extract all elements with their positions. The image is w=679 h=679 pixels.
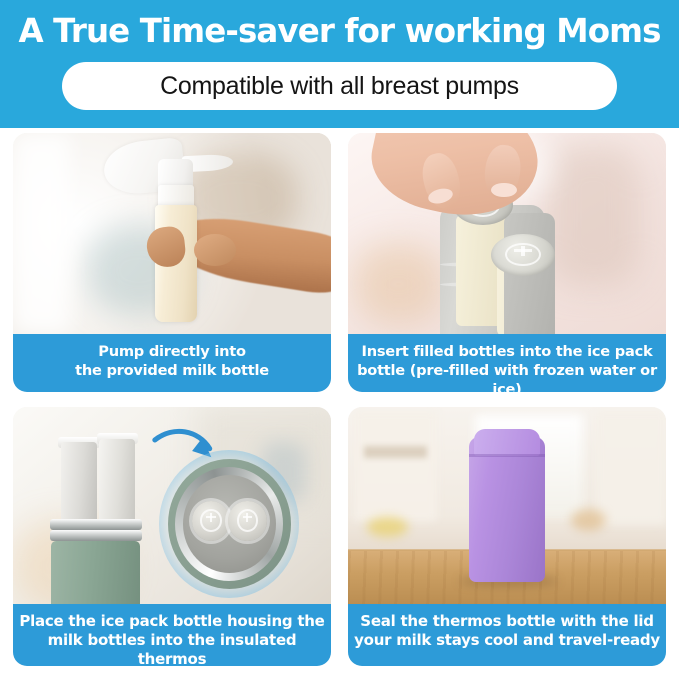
milk-bottle-b: [99, 439, 136, 526]
background-blur-left: [354, 244, 443, 324]
inset-interior: [183, 475, 276, 573]
fingers: [194, 234, 235, 266]
purple-thermos: [469, 437, 545, 583]
green-thermos: [51, 541, 140, 604]
step-caption: Seal the thermos bottle with the lid you…: [348, 604, 666, 666]
background-cabinet-left: [354, 411, 437, 521]
background-shelf: [364, 446, 428, 458]
background-cabinet-right: [596, 411, 666, 525]
compatibility-pill: Compatible with all breast pumps: [62, 62, 617, 110]
inset-thermos-body: [168, 459, 291, 589]
bottle-cap-right: [491, 234, 555, 276]
cross-emblem-icon: [237, 509, 258, 532]
milk-bottle-a: [61, 442, 98, 525]
cross-emblem-icon: [505, 243, 541, 267]
steps-grid: Pump directly into the provided milk bot…: [13, 133, 666, 666]
inset-steel-rim: [175, 467, 283, 581]
fingernail: [491, 183, 516, 197]
photo-insert-bottles-ice-pack: [348, 133, 666, 334]
inset-bottle-cap-right: [228, 501, 266, 541]
step-caption: Place the ice pack bottle housing the mi…: [13, 604, 331, 666]
inset-bottle-cap-left: [192, 501, 230, 541]
steel-rim-upper: [50, 519, 142, 530]
top-view-inset: [159, 450, 299, 598]
step-caption: Pump directly into the provided milk bot…: [13, 334, 331, 392]
photo-seal-thermos: [348, 407, 666, 604]
photo-pump-into-bottle: [13, 133, 331, 334]
cross-emblem-icon: [200, 509, 221, 532]
background-jar: [571, 509, 606, 531]
steel-rim-lower: [50, 530, 142, 541]
lid-seam: [469, 454, 545, 457]
header-banner: A True Time-saver for working Moms Compa…: [0, 0, 679, 128]
background-blur-curtain: [13, 133, 70, 334]
step-panel-insert-bottles-ice-pack: Insert filled bottles into the ice pack …: [348, 133, 666, 392]
step-caption: Insert filled bottles into the ice pack …: [348, 334, 666, 392]
page-title: A True Time-saver for working Moms: [0, 9, 679, 53]
step-panel-pump-into-bottle: Pump directly into the provided milk bot…: [13, 133, 331, 392]
photo-place-into-thermos: [13, 407, 331, 604]
step-panel-seal-thermos: Seal the thermos bottle with the lid you…: [348, 407, 666, 666]
background-blur-right: [545, 145, 640, 286]
compatibility-pill-label: Compatible with all breast pumps: [160, 72, 519, 101]
thermos-lid: [474, 429, 541, 457]
step-panel-place-into-thermos: Place the ice pack bottle housing the mi…: [13, 407, 331, 666]
